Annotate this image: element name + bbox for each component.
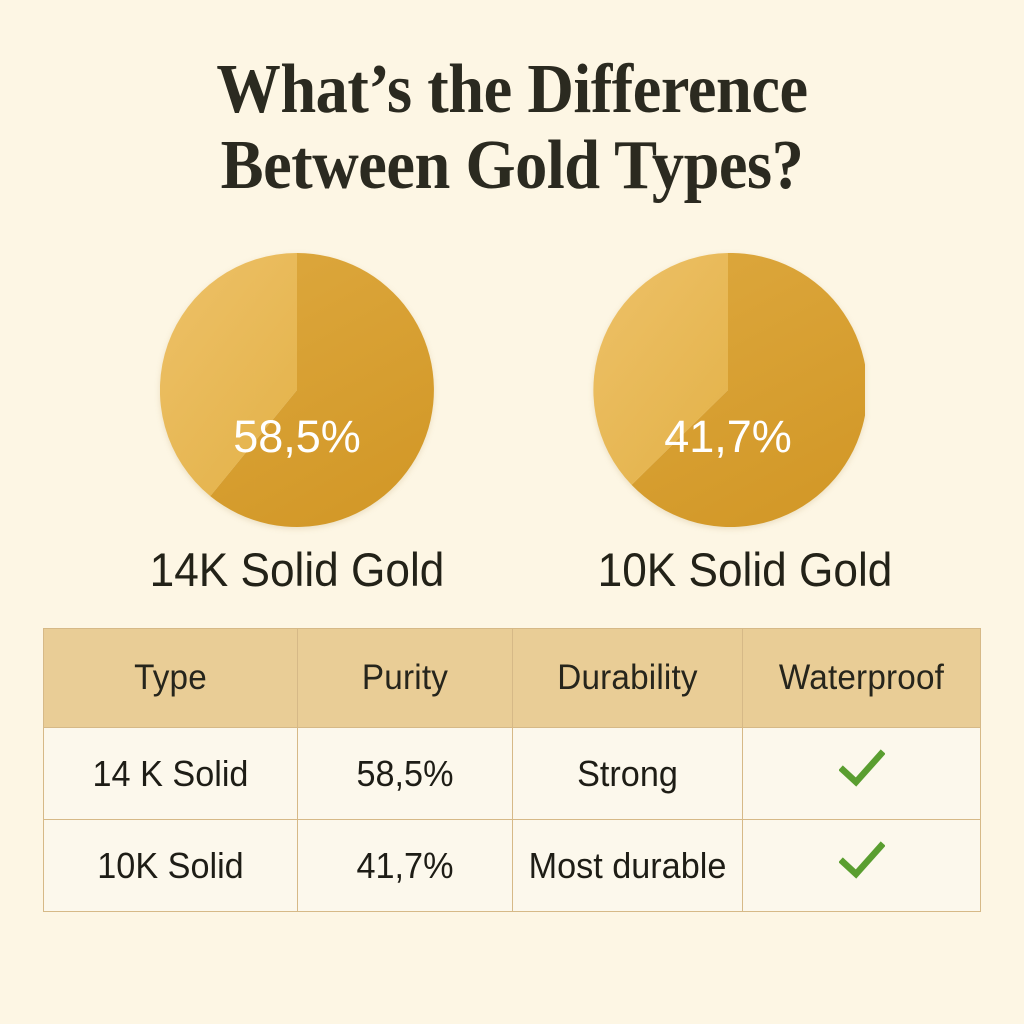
cell-waterproof (743, 728, 981, 820)
table-header-durability: Durability (513, 629, 743, 728)
page-title-line-2: Between Gold Types? (41, 128, 983, 204)
cell-durability: Most durable (513, 820, 743, 912)
page-title: What’s the Difference Between Gold Types… (0, 52, 1024, 204)
pie-caption-14k: 14K Solid Gold (100, 541, 495, 599)
comparison-table: Type Purity Durability Waterproof 14 K S… (43, 628, 981, 912)
pie-chart-group: 58,5% 41,7% (0, 253, 1024, 529)
table-header-type: Type (44, 629, 298, 728)
cell-type: 14 K Solid (44, 728, 298, 820)
pie-chart-14k-svg (160, 253, 434, 527)
cell-purity: 58,5% (298, 728, 513, 820)
cell-purity: 41,7% (298, 820, 513, 912)
cell-waterproof (743, 820, 981, 912)
pie-chart-10k: 41,7% (591, 253, 865, 527)
check-icon (839, 749, 885, 789)
page-title-line-1: What’s the Difference (41, 52, 983, 128)
pie-chart-14k: 58,5% (160, 253, 434, 527)
table-row: 10K Solid 41,7% Most durable (44, 820, 981, 912)
pie-caption-10k: 10K Solid Gold (548, 541, 943, 599)
table-row: 14 K Solid 58,5% Strong (44, 728, 981, 820)
pie-chart-10k-svg (591, 253, 865, 527)
table-header-purity: Purity (298, 629, 513, 728)
cell-durability: Strong (513, 728, 743, 820)
check-icon (839, 841, 885, 881)
pie-caption-group: 14K Solid Gold 10K Solid Gold (0, 541, 1024, 603)
gold-types-infographic: What’s the Difference Between Gold Types… (0, 0, 1024, 1024)
table-header-row: Type Purity Durability Waterproof (44, 629, 981, 728)
table-header-waterproof: Waterproof (743, 629, 981, 728)
cell-type: 10K Solid (44, 820, 298, 912)
